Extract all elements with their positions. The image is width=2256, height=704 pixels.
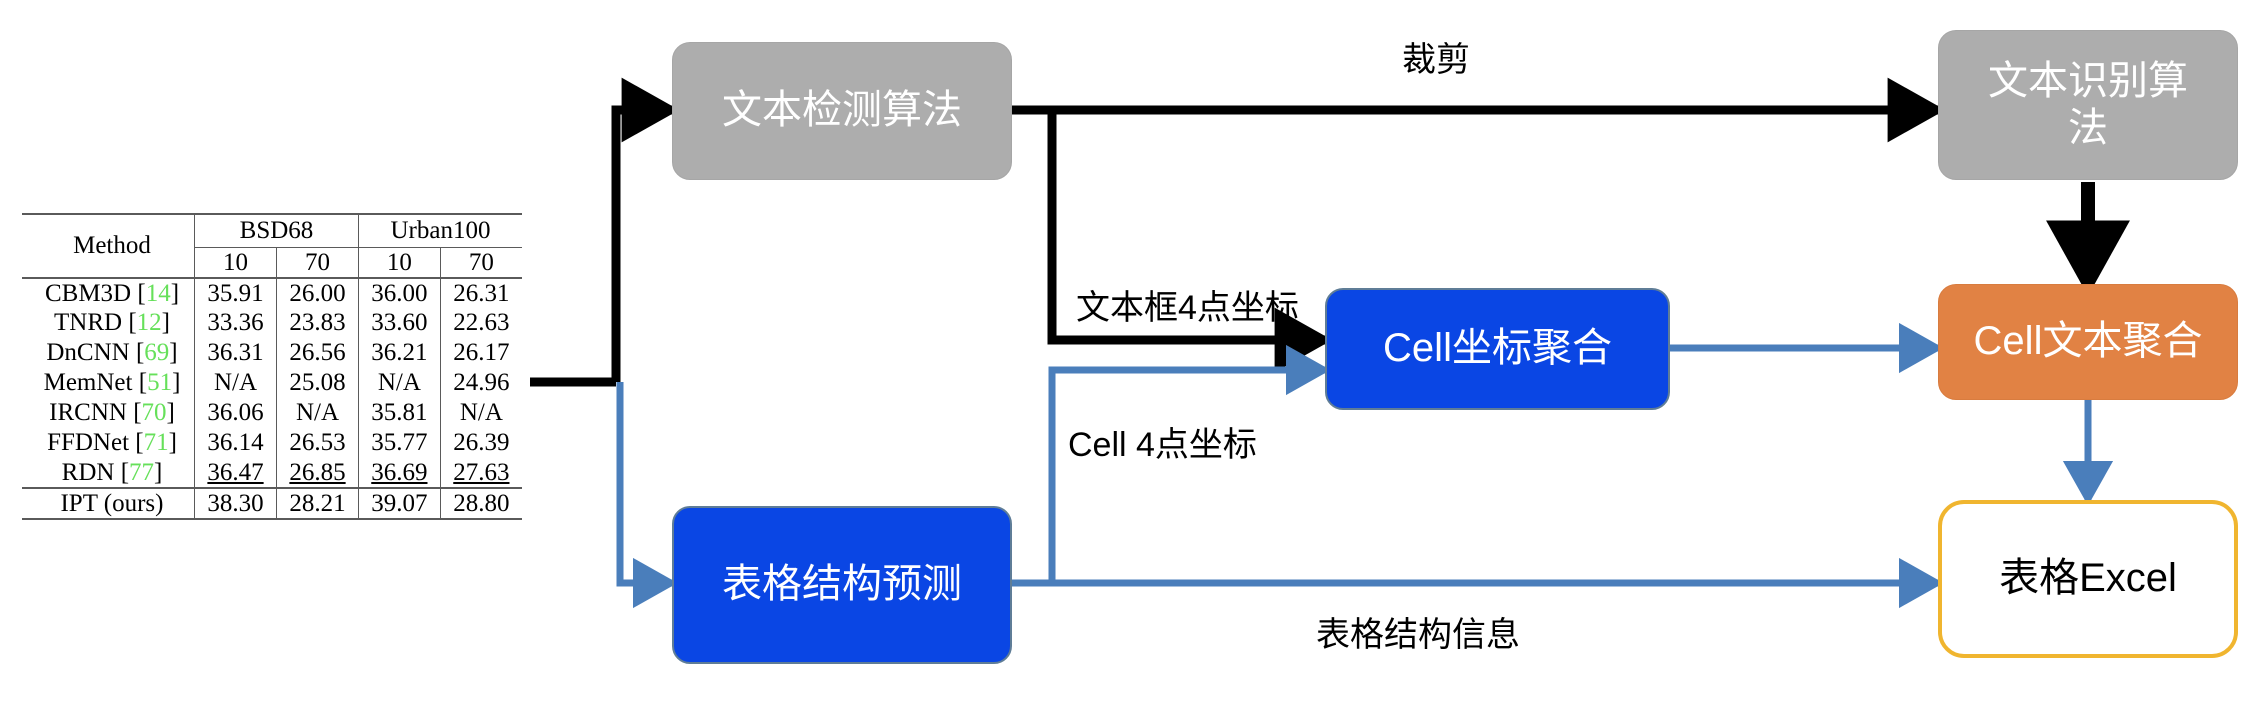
node-cell-text-merge[interactable]: Cell文本聚合	[1938, 284, 2238, 400]
table-row: DnCNN [69]36.3126.5636.2126.17	[22, 338, 522, 368]
table-cell-value: 36.47	[195, 458, 277, 488]
table-cell-value: 24.96	[440, 368, 522, 398]
table-header-sub-bsd68-10: 10	[195, 247, 277, 278]
table-cell-value: N/A	[277, 398, 359, 428]
reference-number: 51	[147, 369, 172, 396]
table-cell-value: N/A	[359, 368, 441, 398]
table-cell-value: 26.39	[440, 428, 522, 458]
table-cell-value: 26.17	[440, 338, 522, 368]
diagram-canvas: Method BSD68 Urban100 10 70 10 70 CBM3D …	[0, 0, 2256, 704]
reference-number: 70	[142, 399, 167, 426]
table-cell-value: 36.06	[195, 398, 277, 428]
table-cell-value: N/A	[440, 398, 522, 428]
table-row: RDN [77]36.4726.8536.6927.63	[22, 458, 522, 488]
table-cell-value: 39.07	[359, 488, 441, 519]
table-header-sub-urban100-70: 70	[440, 247, 522, 278]
table-cell-method: CBM3D [14]	[22, 278, 195, 308]
table-header-group-row: Method BSD68 Urban100	[22, 214, 522, 247]
table-cell-value: 36.69	[359, 458, 441, 488]
table-cell-value: 28.80	[440, 488, 522, 519]
node-cell-coord-merge-label: Cell坐标聚合	[1383, 325, 1612, 372]
table-cell-value: N/A	[195, 368, 277, 398]
table-row: TNRD [12]33.3623.8333.6022.63	[22, 308, 522, 338]
table-cell-value: 26.53	[277, 428, 359, 458]
table-cell-value: 36.21	[359, 338, 441, 368]
table-cell-method: TNRD [12]	[22, 308, 195, 338]
table-cell-method: DnCNN [69]	[22, 338, 195, 368]
node-cell-text-merge-label: Cell文本聚合	[1974, 318, 2203, 365]
table-header-group-bsd68: BSD68	[195, 214, 359, 247]
table-cell-value: 36.31	[195, 338, 277, 368]
table-cell-value: 35.81	[359, 398, 441, 428]
table-cell-value: 22.63	[440, 308, 522, 338]
table-cell-value: 35.77	[359, 428, 441, 458]
table-cell-value: 36.00	[359, 278, 441, 308]
table-cell-value: 33.36	[195, 308, 277, 338]
node-text-recognition-label: 文本识别算法	[1969, 58, 2207, 152]
table-cell-value: 26.56	[277, 338, 359, 368]
table-body: CBM3D [14]35.9126.0036.0026.31TNRD [12]3…	[22, 278, 522, 519]
reference-number: 14	[146, 280, 171, 307]
node-table-structure-label: 表格结构预测	[722, 561, 962, 608]
node-table-excel-label: 表格Excel	[1999, 555, 2177, 602]
arrow-split-to-table-structure	[620, 382, 672, 583]
table-cell-value: 35.91	[195, 278, 277, 308]
edge-label-cell-4-points: Cell 4点坐标	[1068, 417, 1257, 466]
table-row: MemNet [51]N/A25.08N/A24.96	[22, 368, 522, 398]
node-table-structure[interactable]: 表格结构预测	[672, 506, 1012, 664]
node-table-excel[interactable]: 表格Excel	[1938, 500, 2238, 658]
edge-label-crop: 裁剪	[1402, 32, 1470, 81]
node-text-detection[interactable]: 文本检测算法	[672, 42, 1012, 180]
table-cell-value: 36.14	[195, 428, 277, 458]
reference-number: 12	[137, 309, 162, 336]
reference-number: 77	[129, 459, 154, 486]
table-header-method: Method	[22, 214, 195, 278]
table-cell-method: FFDNet [71]	[22, 428, 195, 458]
edge-label-textbox-4-points: 文本框4点坐标	[1076, 280, 1299, 329]
node-cell-coord-merge[interactable]: Cell坐标聚合	[1325, 288, 1670, 410]
table-cell-value: 28.21	[277, 488, 359, 519]
table-header-sub-urban100-10: 10	[359, 247, 441, 278]
table-cell-value: 27.63	[440, 458, 522, 488]
table-header-group-urban100: Urban100	[359, 214, 523, 247]
table-cell-value: 23.83	[277, 308, 359, 338]
node-text-detection-label: 文本检测算法	[722, 87, 962, 134]
table-row: IRCNN [70]36.06N/A35.81N/A	[22, 398, 522, 428]
table-cell-method: RDN [77]	[22, 458, 195, 488]
edge-label-table-structure-info: 表格结构信息	[1316, 607, 1520, 656]
table-cell-value: 33.60	[359, 308, 441, 338]
table-row: FFDNet [71]36.1426.5335.7726.39	[22, 428, 522, 458]
table-row-final: IPT (ours)38.3028.2139.0728.80	[22, 488, 522, 519]
reference-number: 71	[144, 429, 169, 456]
reference-number: 69	[144, 339, 169, 366]
table-cell-value: 38.30	[195, 488, 277, 519]
table-cell-value: 26.31	[440, 278, 522, 308]
table-header-sub-bsd68-70: 70	[277, 247, 359, 278]
results-table: Method BSD68 Urban100 10 70 10 70 CBM3D …	[22, 213, 522, 520]
table-cell-method: IPT (ours)	[22, 488, 195, 519]
table-cell-method: IRCNN [70]	[22, 398, 195, 428]
table-row: CBM3D [14]35.9126.0036.0026.31	[22, 278, 522, 308]
node-text-recognition[interactable]: 文本识别算法	[1938, 30, 2238, 180]
table-cell-value: 25.08	[277, 368, 359, 398]
table-cell-value: 26.00	[277, 278, 359, 308]
arrow-split-to-text-detection	[616, 110, 672, 382]
table-cell-method: MemNet [51]	[22, 368, 195, 398]
arrow-table-structure-to-cell-coord	[1052, 370, 1325, 580]
table-cell-value: 26.85	[277, 458, 359, 488]
